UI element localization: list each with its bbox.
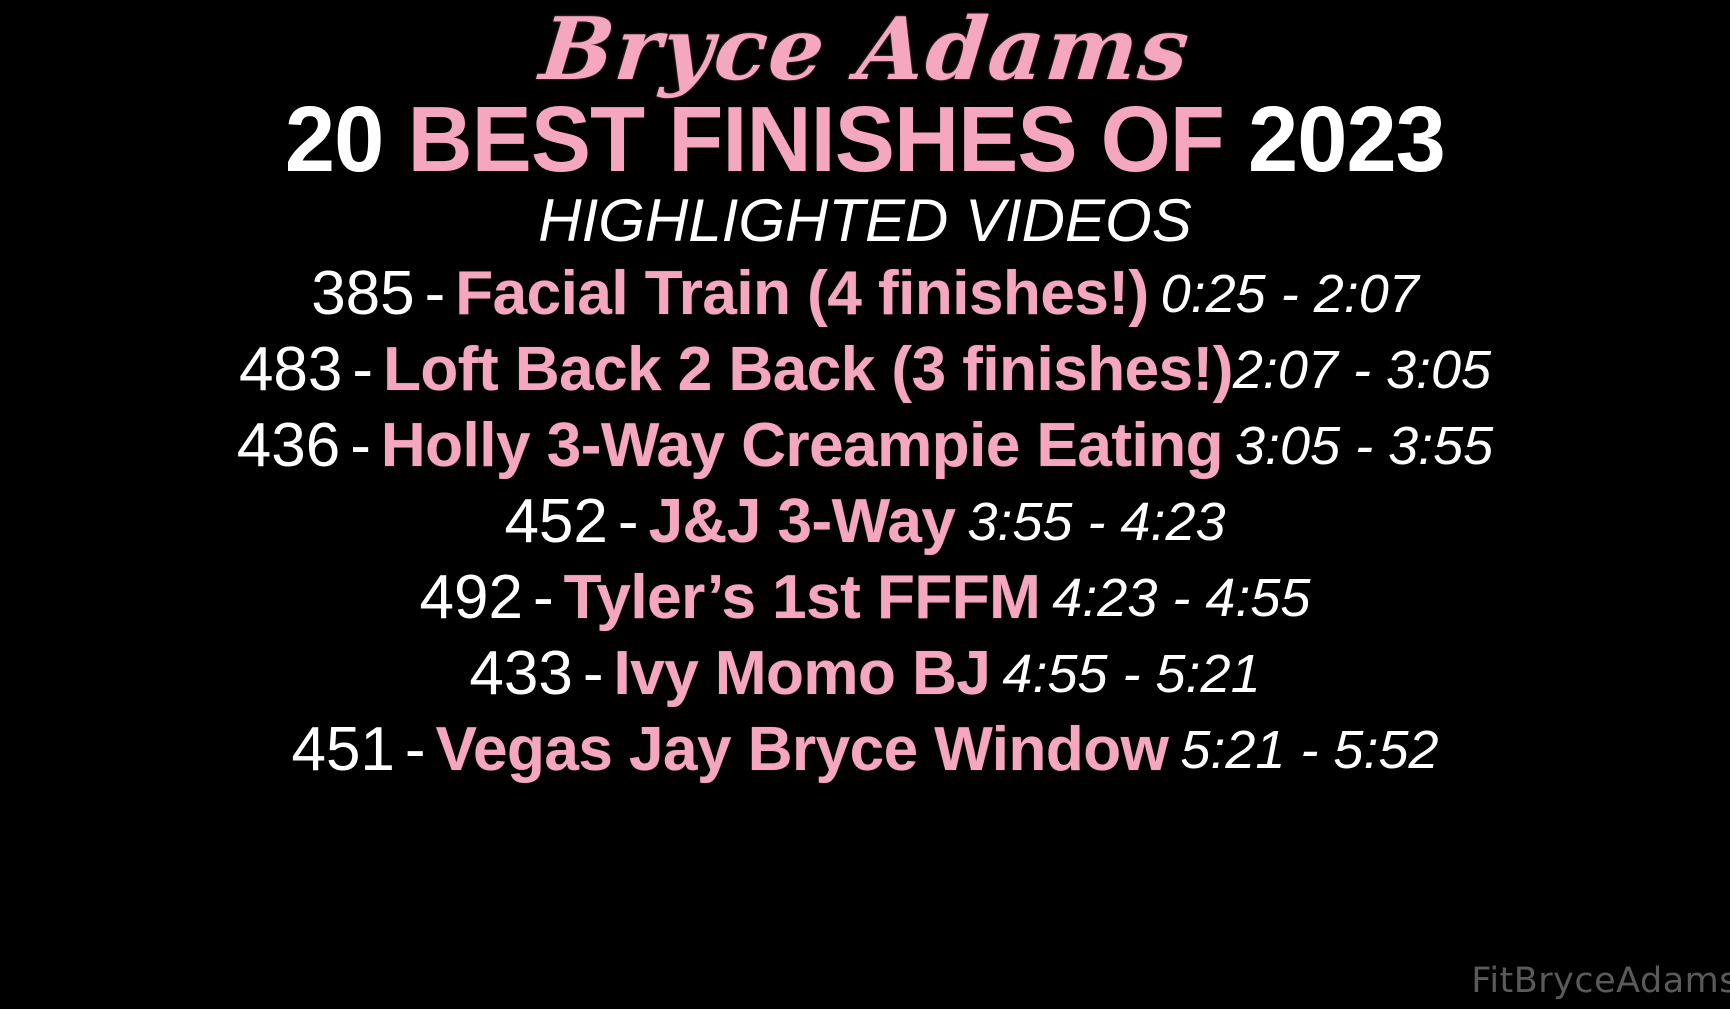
- video-list: 385 - Facial Train (4 finishes!) 0:25 - …: [0, 256, 1730, 788]
- video-time-range: 5:21 - 5:52: [1168, 723, 1438, 777]
- poster-canvas: Bryce Adams 20 BEST FINISHES OF 2023 HIG…: [0, 0, 1730, 1009]
- headline-count: 20: [285, 87, 383, 191]
- list-item: 385 - Facial Train (4 finishes!) 0:25 - …: [0, 256, 1730, 332]
- video-title: Holly 3-Way Creampie Eating: [381, 415, 1223, 477]
- video-title: Facial Train (4 finishes!): [455, 263, 1148, 325]
- video-number: 451: [291, 719, 394, 781]
- video-separator: -: [340, 415, 381, 477]
- video-time-range: 0:25 - 2:07: [1149, 267, 1419, 321]
- video-time-range: 3:55 - 4:23: [955, 495, 1225, 549]
- video-time-range: 3:05 - 3:55: [1223, 419, 1493, 473]
- video-number: 436: [237, 415, 340, 477]
- video-separator: -: [395, 719, 436, 781]
- list-item: 451 - Vegas Jay Bryce Window 5:21 - 5:52: [0, 712, 1730, 788]
- video-time-range: 4:23 - 4:55: [1040, 571, 1310, 625]
- page-title: 20 BEST FINISHES OF 2023: [285, 92, 1445, 187]
- list-item: 483 - Loft Back 2 Back (3 finishes!) 2:0…: [0, 332, 1730, 408]
- video-number: 385: [311, 263, 414, 325]
- list-item: 436 - Holly 3-Way Creampie Eating 3:05 -…: [0, 408, 1730, 484]
- video-title: J&J 3-Way: [649, 491, 956, 553]
- video-number: 492: [420, 567, 523, 629]
- video-number: 433: [469, 643, 572, 705]
- page-subtitle: HIGHLIGHTED VIDEOS: [538, 189, 1191, 252]
- video-title: Tyler’s 1st FFFM: [564, 567, 1041, 629]
- headline-middle: BEST FINISHES OF: [383, 87, 1248, 191]
- video-time-range: 4:55 - 5:21: [990, 647, 1260, 701]
- creator-signature: Bryce Adams: [536, 4, 1195, 96]
- video-separator: -: [415, 263, 456, 325]
- video-separator: -: [608, 491, 649, 553]
- video-title: Vegas Jay Bryce Window: [436, 719, 1169, 781]
- video-number: 452: [504, 491, 607, 553]
- watermark: FitBryceAdams: [1471, 961, 1730, 1001]
- video-separator: -: [573, 643, 614, 705]
- list-item: 452 - J&J 3-Way 3:55 - 4:23: [0, 484, 1730, 560]
- video-separator: -: [342, 339, 383, 401]
- list-item: 433 - Ivy Momo BJ 4:55 - 5:21: [0, 636, 1730, 712]
- list-item: 492 - Tyler’s 1st FFFM 4:23 - 4:55: [0, 560, 1730, 636]
- headline-year: 2023: [1248, 87, 1445, 191]
- video-title: Loft Back 2 Back (3 finishes!): [383, 339, 1233, 401]
- video-title: Ivy Momo BJ: [614, 643, 991, 705]
- video-number: 483: [239, 339, 342, 401]
- video-separator: -: [523, 567, 564, 629]
- video-time-range: 2:07 - 3:05: [1233, 343, 1491, 397]
